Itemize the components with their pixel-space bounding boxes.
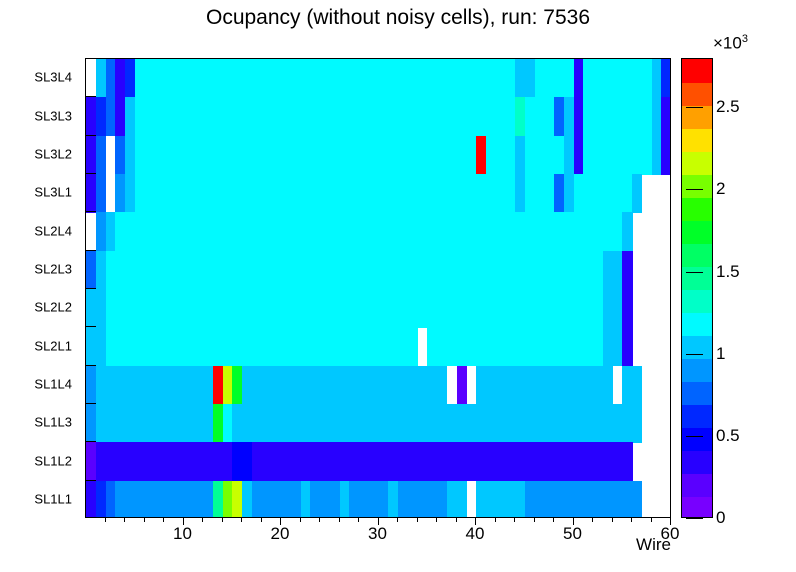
- colorbar-exponent-power: 3: [742, 33, 748, 45]
- colorbar-tick: [686, 107, 703, 108]
- colorbar-tick-label: 1: [716, 344, 725, 364]
- heatmap-cell: [622, 442, 632, 481]
- colorbar-band: [682, 427, 712, 451]
- colorbar-exponent-label: ×103: [713, 33, 748, 54]
- colorbar-band: [682, 473, 712, 497]
- x-axis-tick-label: 50: [563, 524, 582, 544]
- colorbar-band: [682, 243, 712, 267]
- x-axis-minor-tick: [319, 518, 320, 522]
- colorbar-tick: [686, 518, 703, 519]
- x-axis-minor-tick: [417, 518, 418, 522]
- heatmap-cell: [622, 289, 632, 328]
- heatmap-cell: [622, 212, 632, 251]
- heatmap-cell: [96, 174, 106, 213]
- x-axis-tick-label: 30: [368, 524, 387, 544]
- y-axis-tick: [85, 326, 96, 327]
- x-axis-minor-tick: [456, 518, 457, 522]
- heatmap-cell: [661, 59, 671, 98]
- heatmap-cells: [86, 59, 670, 517]
- colorbar-tick: [686, 272, 703, 273]
- colorbar-tick-label: 0: [716, 508, 725, 528]
- colorbar-band: [682, 105, 712, 129]
- colorbar-tick-label: 0.5: [716, 426, 740, 446]
- y-axis-tick: [85, 211, 96, 212]
- colorbar-tick: [686, 436, 703, 437]
- x-axis-minor-tick: [592, 518, 593, 522]
- heatmap-cell: [632, 174, 642, 213]
- heatmap-cell: [622, 327, 632, 366]
- x-axis-minor-tick: [222, 518, 223, 522]
- x-axis-minor-tick: [631, 518, 632, 522]
- colorbar-band: [682, 220, 712, 244]
- colorbar-band: [682, 266, 712, 290]
- colorbar-band: [682, 128, 712, 152]
- x-axis-minor-tick: [202, 518, 203, 522]
- y-axis-tick: [85, 250, 96, 251]
- colorbar-band: [682, 358, 712, 382]
- x-axis-minor-tick: [124, 518, 125, 522]
- x-axis-title: Wire: [595, 535, 671, 555]
- x-axis-minor-tick: [514, 518, 515, 522]
- colorbar-band: [682, 174, 712, 198]
- colorbar-band: [682, 450, 712, 474]
- y-axis-tick-label: SL1L1: [34, 491, 72, 506]
- x-axis-tick-label: 10: [173, 524, 192, 544]
- colorbar-band: [682, 151, 712, 175]
- y-axis-tick-label: SL3L2: [34, 146, 72, 161]
- y-axis-label-group: SL3L4SL3L3SL3L2SL3L1SL2L4SL2L3SL2L2SL2L1…: [0, 58, 80, 518]
- colorbar-exponent-base: ×10: [713, 34, 742, 53]
- x-axis-minor-tick: [241, 518, 242, 522]
- y-axis-tick: [85, 96, 96, 97]
- colorbar-band: [682, 312, 712, 336]
- y-axis-tick: [85, 365, 96, 366]
- x-axis-minor-tick: [495, 518, 496, 522]
- heatmap-cell: [661, 136, 671, 175]
- y-axis-tick: [85, 403, 96, 404]
- colorbar-tick-label: 2.5: [716, 97, 740, 117]
- x-axis-minor-tick: [436, 518, 437, 522]
- y-axis-tick: [85, 135, 96, 136]
- x-axis-tick-label: 40: [466, 524, 485, 544]
- colorbar-band: [682, 59, 712, 83]
- colorbar-tick-label: 1.5: [716, 262, 740, 282]
- heatmap-cell: [457, 481, 467, 518]
- x-axis-minor-tick: [339, 518, 340, 522]
- colorbar-band: [682, 335, 712, 359]
- x-axis-tick-label: 20: [271, 524, 290, 544]
- heatmap-cell: [457, 366, 467, 405]
- heatmap-cell: [96, 136, 106, 175]
- y-axis-tick-label: SL2L1: [34, 338, 72, 353]
- heatmap-plot-area[interactable]: [85, 58, 671, 518]
- x-axis-minor-tick: [397, 518, 398, 522]
- colorbar-band: [682, 381, 712, 405]
- x-axis-minor-tick: [105, 518, 106, 522]
- heatmap-cell: [603, 366, 613, 405]
- y-axis-tick: [85, 441, 96, 442]
- y-axis-tick-label: SL2L3: [34, 261, 72, 276]
- colorbar-band: [682, 289, 712, 313]
- heatmap-cell: [408, 327, 418, 366]
- y-axis-tick: [85, 173, 96, 174]
- x-axis-minor-tick: [261, 518, 262, 522]
- x-axis-minor-tick: [612, 518, 613, 522]
- colorbar-tick-label: 2: [716, 179, 725, 199]
- y-axis-tick-label: SL1L4: [34, 376, 72, 391]
- colorbar-tick: [686, 354, 703, 355]
- y-axis-tick-label: SL1L3: [34, 415, 72, 430]
- x-axis-minor-tick: [553, 518, 554, 522]
- heatmap-cell: [661, 97, 671, 136]
- x-axis-minor-tick: [534, 518, 535, 522]
- heatmap-cell: [632, 366, 642, 405]
- colorbar-band: [682, 197, 712, 221]
- colorbar-band: [682, 496, 712, 518]
- heatmap-cell: [632, 481, 642, 518]
- y-axis-tick-label: SL1L2: [34, 453, 72, 468]
- colorbar-band: [682, 82, 712, 106]
- colorbar-band: [682, 404, 712, 428]
- y-axis-tick-label: SL3L4: [34, 70, 72, 85]
- root-canvas: Ocupancy (without noisy cells), run: 753…: [0, 0, 796, 572]
- heatmap-cell: [632, 404, 642, 443]
- heatmap-cell: [622, 251, 632, 290]
- colorbar[interactable]: [681, 58, 713, 518]
- heatmap-cell: [437, 366, 447, 405]
- y-axis-tick: [85, 288, 96, 289]
- y-axis-tick: [85, 480, 96, 481]
- y-axis-tick-label: SL2L4: [34, 223, 72, 238]
- x-axis-minor-tick: [651, 518, 652, 522]
- y-axis-tick-label: SL3L1: [34, 185, 72, 200]
- y-axis-tick-label: SL3L3: [34, 108, 72, 123]
- x-axis-minor-tick: [163, 518, 164, 522]
- x-axis-minor-tick: [358, 518, 359, 522]
- page-title: Ocupancy (without noisy cells), run: 753…: [0, 6, 796, 30]
- x-axis-minor-tick: [144, 518, 145, 522]
- y-axis-tick-label: SL2L2: [34, 300, 72, 315]
- x-axis-minor-tick: [300, 518, 301, 522]
- colorbar-tick: [686, 189, 703, 190]
